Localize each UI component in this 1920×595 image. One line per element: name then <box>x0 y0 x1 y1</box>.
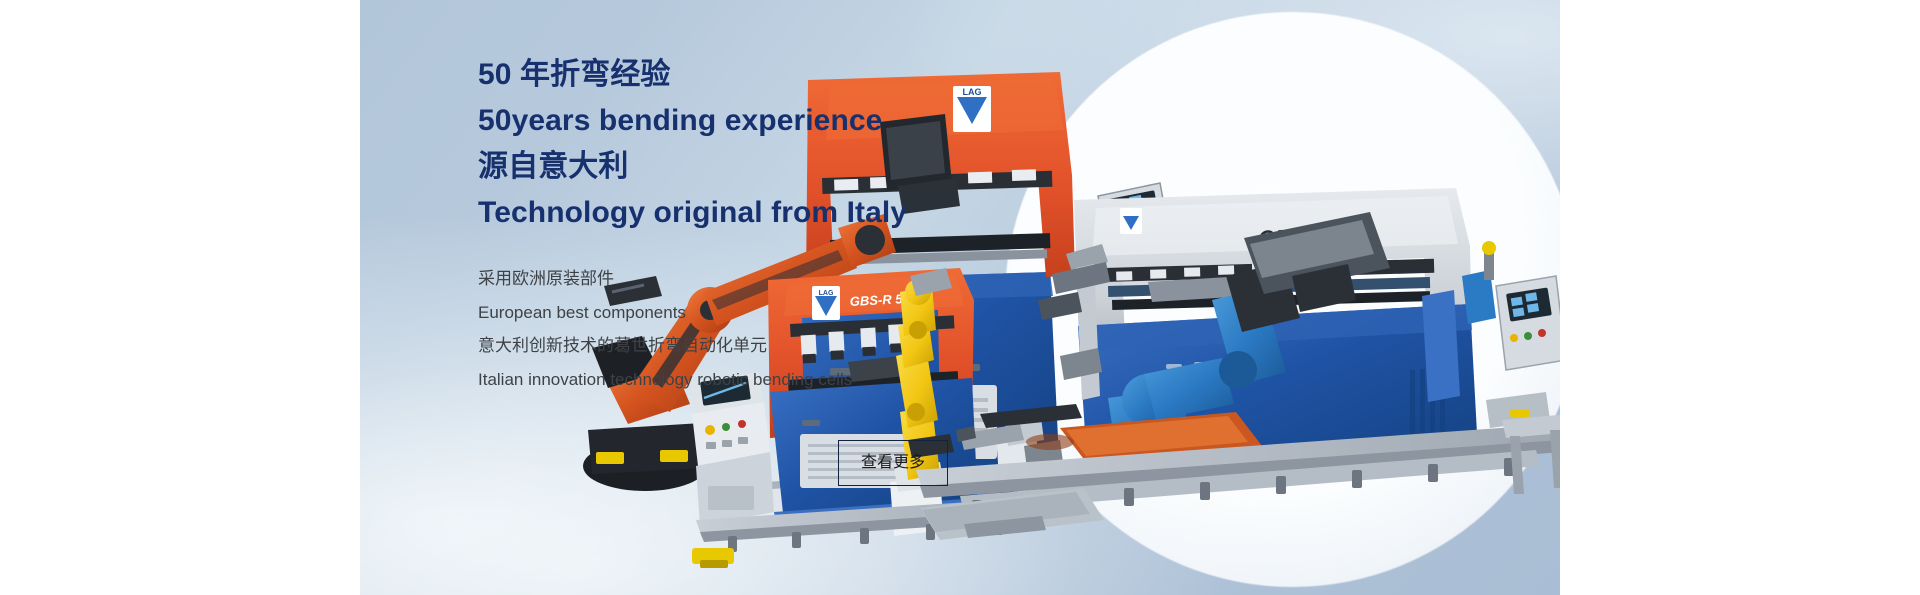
headline-line-1-text: 年折弯经验 <box>512 58 671 91</box>
hero-banner: LAG <box>360 0 1560 595</box>
hero-subtext: 采用欧洲原装部件 European best components 意大利创新技… <box>478 262 1038 396</box>
subtext-line-3: 意大利创新技术的葛世折弯自动化单元 <box>478 329 1038 363</box>
subtext-line-2: European best components <box>478 296 1038 330</box>
headline-line-3: 源自意大利 <box>478 144 1038 190</box>
view-more-button[interactable]: 查看更多 <box>838 440 948 486</box>
headline-number: 50 <box>478 58 512 91</box>
headline-line-2: 50years bending experience <box>478 98 1038 144</box>
hero-copy: 50 年折弯经验 50years bending experience 源自意大… <box>478 52 1038 396</box>
subtext-line-1: 采用欧洲原装部件 <box>478 262 1038 296</box>
headline-line-1: 50 年折弯经验 <box>478 52 1038 98</box>
banner-slide: LAG <box>0 0 1920 595</box>
subtext-line-4: Italian innovation technology robotic be… <box>478 363 1038 397</box>
headline-line-4: Technology original from Italy <box>478 190 1038 236</box>
